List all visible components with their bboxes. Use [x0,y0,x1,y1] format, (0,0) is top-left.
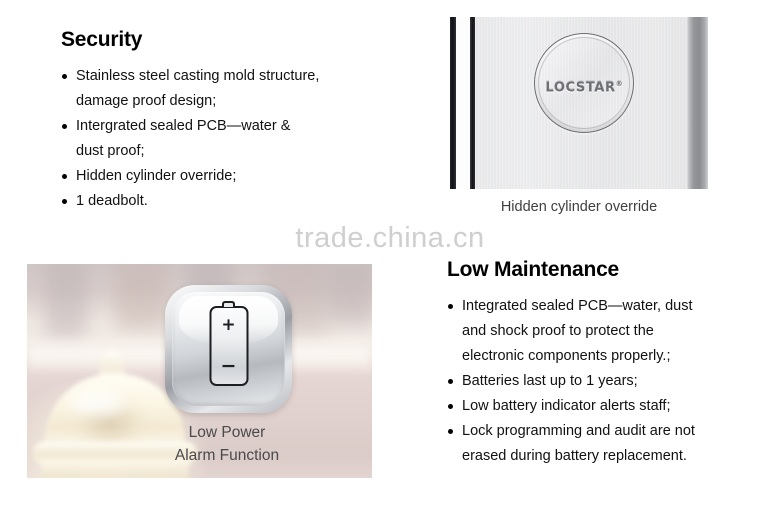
low-power-alarm-figure: + − Low Power Alarm Function [27,264,372,478]
registered-trademark-icon: ® [616,80,623,88]
list-item: Batteries last up to 1 years; [447,369,767,394]
list-item: Hidden cylinder override; [61,164,401,189]
watermark: trade.china.cn [0,222,780,255]
list-item: Stainless steel casting mold structure, … [61,64,401,114]
low-power-button-graphic: + − [165,285,292,413]
power-button-face: + − [172,292,285,406]
low-maintenance-section: Low Maintenance Integrated sealed PCB—wa… [447,258,767,469]
list-item: Low battery indicator alerts staff; [447,394,767,419]
battery-minus-sign: − [211,357,246,376]
low-maintenance-heading: Low Maintenance [447,258,767,281]
security-bullet-list: Stainless steel casting mold structure, … [61,64,401,214]
feature-slide: Security Stainless steel casting mold st… [0,0,780,506]
list-item: Lock programming and audit are not erase… [447,419,767,469]
locstar-logo: LOCSTAR® [535,80,633,95]
hidden-cylinder-figure: LOCSTAR® Hidden cylinder override [450,17,708,189]
background-blur-shape [45,264,87,338]
background-blur-shape [115,264,167,330]
battery-terminal-nub [222,301,235,307]
locstar-logo-text: LOCSTAR [545,80,615,95]
panel-right-shadow-strip [686,17,708,189]
steel-panel-photo: LOCSTAR® [450,17,708,189]
security-section: Security Stainless steel casting mold st… [61,28,401,214]
battery-plus-sign: + [211,317,246,334]
list-item: 1 deadbolt. [61,189,401,214]
background-blur-shape [327,264,372,326]
bell-highlight [71,390,125,416]
battery-icon: + − [209,306,248,386]
steel-figure-caption: Hidden cylinder override [450,199,708,215]
cylinder-cover-disc: LOCSTAR® [534,33,634,133]
list-item: Intergrated sealed PCB—water & dust proo… [61,114,401,164]
bell-figure-caption: Low Power Alarm Function [117,421,337,467]
security-heading: Security [61,28,401,51]
list-item: Integrated sealed PCB—water, dust and sh… [447,294,767,369]
door-edge-gap [456,17,470,189]
maintenance-bullet-list: Integrated sealed PCB—water, dust and sh… [447,294,767,469]
